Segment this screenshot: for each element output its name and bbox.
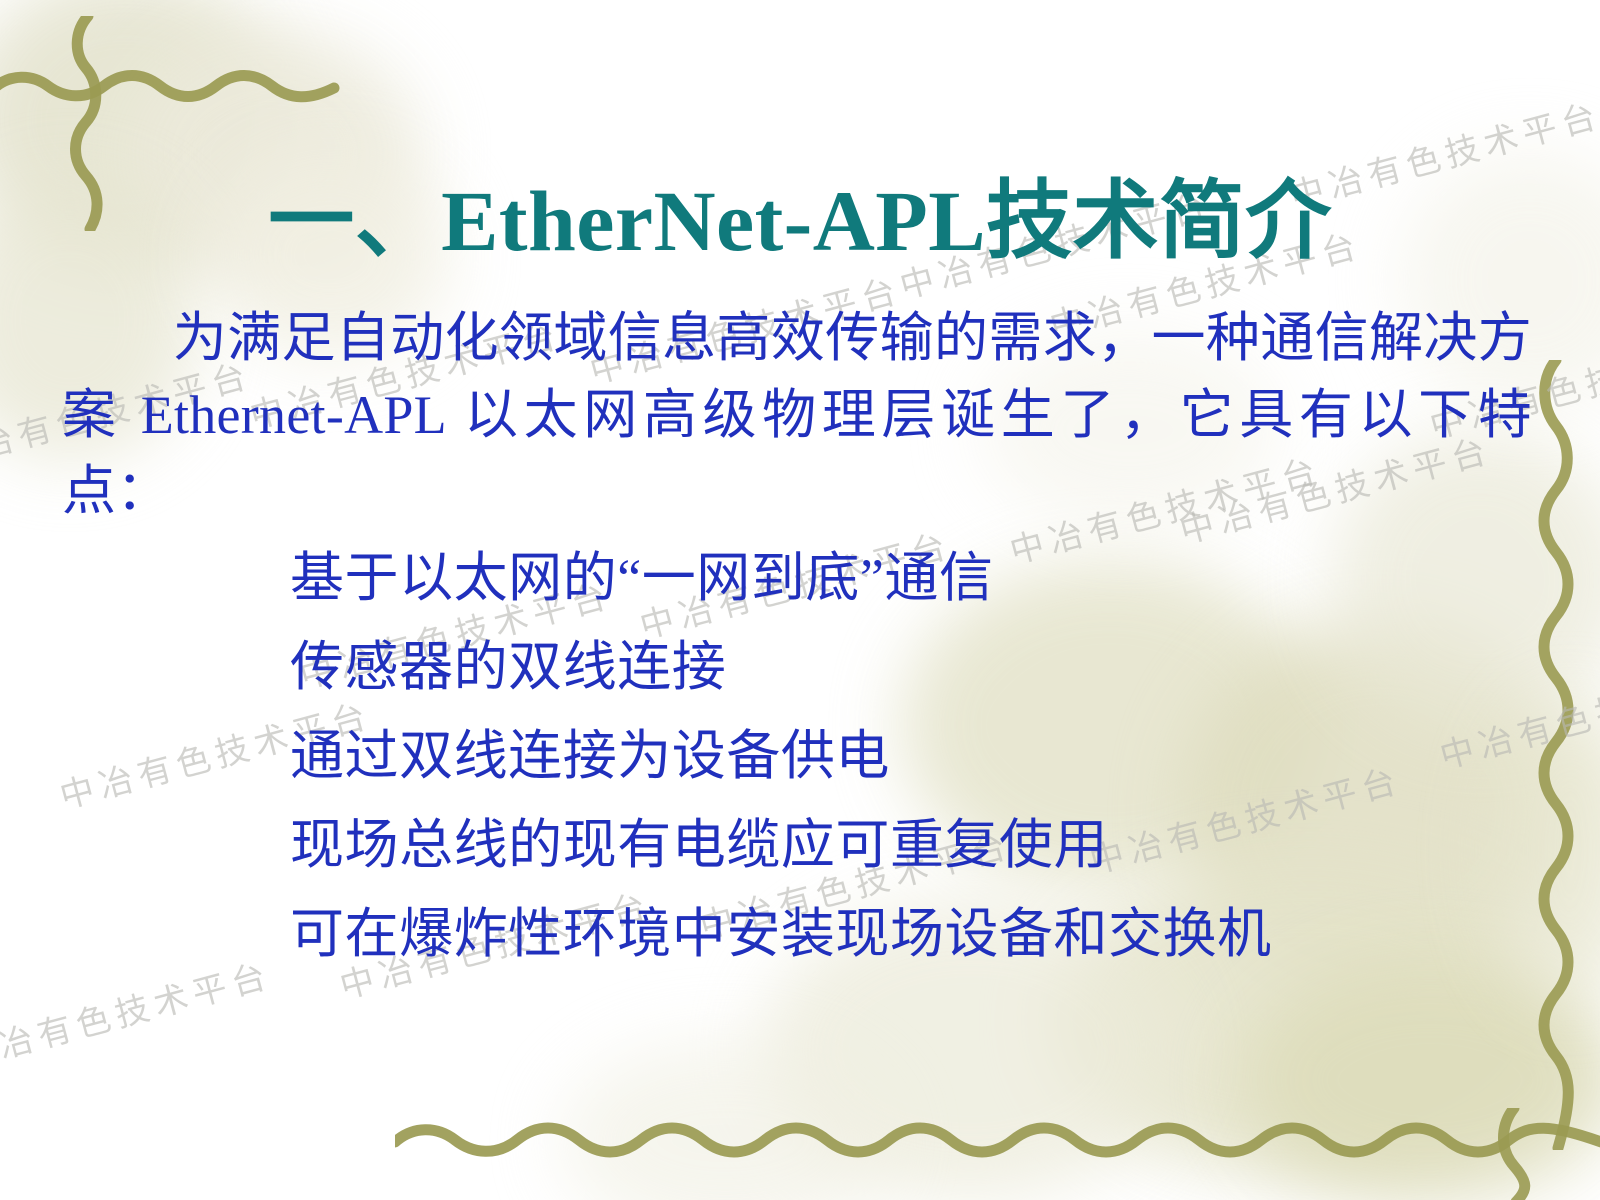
slide-canvas: 中冶有色技术平台中冶有色技术平台中冶有色技术平台中冶有色技术平台中冶有色技术平台…	[0, 0, 1600, 1200]
list-item: 传感器的双线连接	[290, 633, 1532, 702]
slide-body: 为满足自动化领域信息高效传输的需求，一种通信解决方案 Ethernet-APL …	[62, 300, 1532, 990]
list-item: 可在爆炸性环境中安装现场设备和交换机	[290, 900, 1532, 969]
list-item: 通过双线连接为设备供电	[290, 722, 1532, 791]
ornament-bottom-horizontal	[395, 1116, 1600, 1164]
bg-blob	[560, 1040, 890, 1200]
ornament-right-vertical	[1532, 360, 1580, 1150]
list-item: 现场总线的现有电缆应可重复使用	[290, 811, 1532, 880]
ornament-top-left-horizontal	[0, 62, 344, 108]
bg-blob	[1240, 960, 1600, 1200]
intro-paragraph: 为满足自动化领域信息高效传输的需求，一种通信解决方案 Ethernet-APL …	[62, 300, 1532, 530]
page-title: 一、EtherNet-APL技术简介	[0, 176, 1600, 266]
ornament-bottom-right-vertical	[1490, 1108, 1538, 1200]
feature-list: 基于以太网的“一网到底”通信传感器的双线连接通过双线连接为设备供电现场总线的现有…	[62, 544, 1532, 970]
list-item: 基于以太网的“一网到底”通信	[290, 544, 1532, 613]
